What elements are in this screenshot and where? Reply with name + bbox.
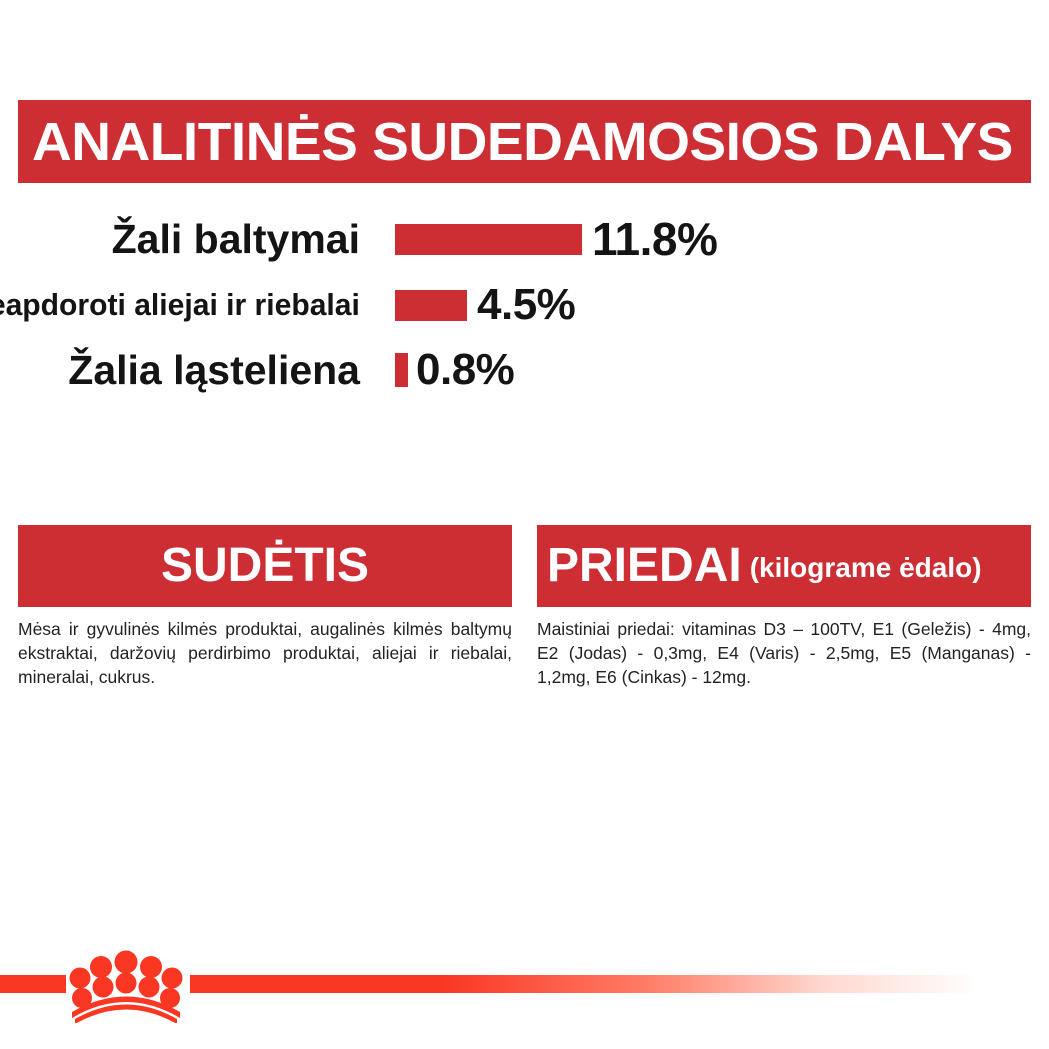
additives-body-text: Maistiniai priedai: vitaminas D3 – 100TV… bbox=[537, 617, 1031, 689]
footer bbox=[0, 930, 1049, 1049]
footer-stripe-right bbox=[190, 975, 980, 993]
analytical-constituents-banner: ANALITINĖS SUDEDAMOSIOS DALYS bbox=[18, 100, 1031, 183]
additives-subtitle: (kilograme ėdalo) bbox=[750, 554, 982, 582]
chart-value-label: 11.8% bbox=[592, 216, 717, 262]
page-title: ANALITINĖS SUDEDAMOSIOS DALYS bbox=[32, 115, 1013, 169]
composition-body-text: Mėsa ir gyvulinės kilmės produktai, auga… bbox=[18, 617, 512, 689]
footer-stripe-left bbox=[0, 975, 66, 993]
chart-bar bbox=[395, 224, 582, 255]
royal-canin-crown-icon bbox=[62, 948, 190, 1023]
composition-panel: SUDĖTIS Mėsa ir gyvulinės kilmės produkt… bbox=[18, 525, 512, 689]
analytical-constituents-chart: Žali baltymai 11.8% Neapdoroti aliejai i… bbox=[0, 205, 1049, 405]
chart-value-label: 0.8% bbox=[416, 348, 514, 392]
chart-category-label: Žali baltymai bbox=[112, 213, 360, 265]
additives-panel: PRIEDAI (kilograme ėdalo) Maistiniai pri… bbox=[537, 525, 1031, 689]
additives-title: PRIEDAI bbox=[547, 542, 742, 590]
composition-banner: SUDĖTIS bbox=[18, 525, 512, 607]
additives-banner: PRIEDAI (kilograme ėdalo) bbox=[537, 525, 1031, 607]
chart-value-label: 4.5% bbox=[477, 283, 575, 327]
chart-bar-group: 0.8% bbox=[395, 344, 514, 396]
composition-title: SUDĖTIS bbox=[161, 542, 369, 590]
chart-row: Žalia ląsteliena 0.8% bbox=[0, 344, 1049, 400]
chart-row: Neapdoroti aliejai ir riebalai 4.5% bbox=[0, 279, 1049, 335]
chart-category-label: Neapdoroti aliejai ir riebalai bbox=[0, 279, 360, 331]
chart-bar bbox=[395, 290, 467, 321]
chart-bar-group: 4.5% bbox=[395, 279, 575, 331]
chart-bar bbox=[395, 353, 408, 387]
chart-bar-group: 11.8% bbox=[395, 213, 717, 265]
chart-row: Žali baltymai 11.8% bbox=[0, 213, 1049, 269]
chart-category-label: Žalia ląsteliena bbox=[68, 344, 360, 396]
